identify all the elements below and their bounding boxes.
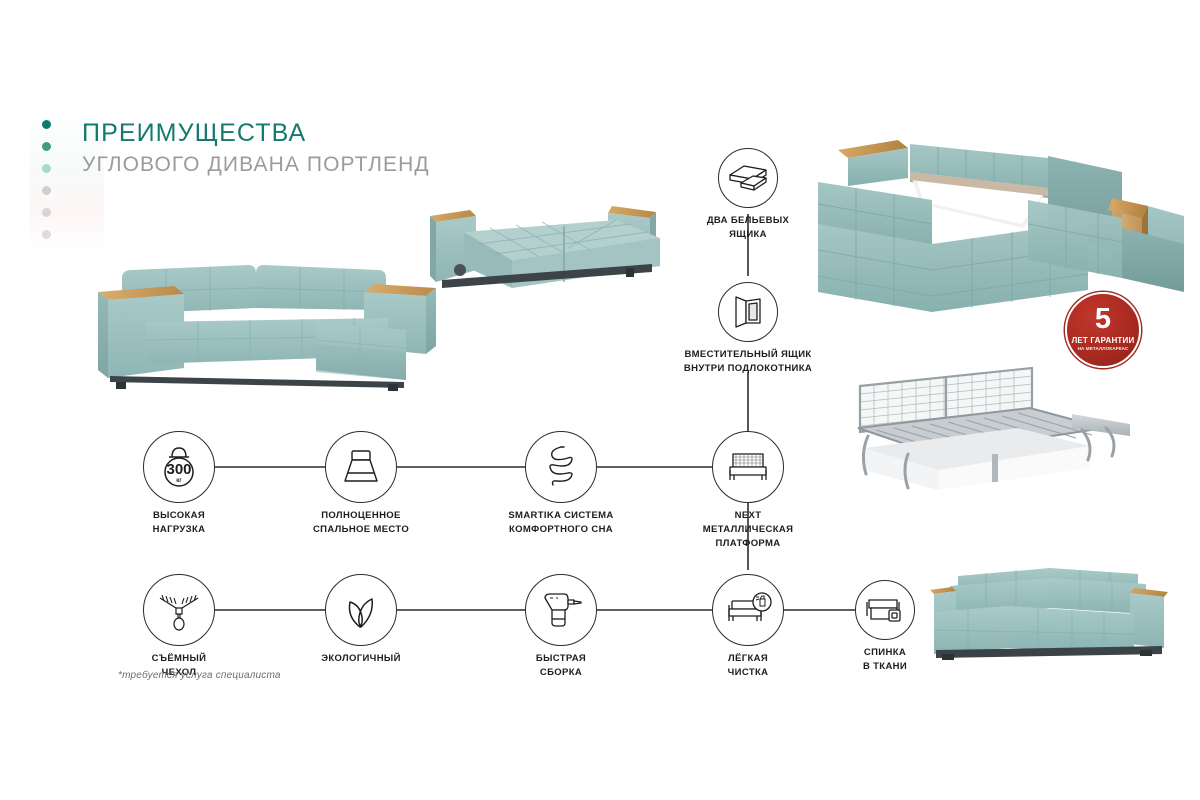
spring-icon [525, 431, 597, 503]
unfolded-sofa-bed-photo [412, 196, 682, 301]
node-label: ПОЛНОЦЕННОЕ СПАЛЬНОЕ МЕСТО [266, 509, 456, 537]
sofa-platform-icon [712, 431, 784, 503]
leaf-icon [325, 574, 397, 646]
load-unit: кг [176, 478, 182, 484]
node-label: ВМЕСТИТЕЛЬНЫЙ ЯЩИК ВНУТРИ ПОДЛОКОТНИКА [640, 348, 856, 376]
sofa-spray-icon [712, 574, 784, 646]
kettlebell-icon: 300 кг [143, 431, 215, 503]
dot-2 [42, 142, 51, 151]
dot-4 [42, 186, 51, 195]
title-secondary: УГЛОВОГО ДИВАНА ПОРТЛЕНД [82, 151, 430, 178]
warranty-years: 5 [1095, 306, 1111, 334]
dot-1 [42, 120, 51, 129]
footnote: *требуется услуга специалиста [118, 670, 281, 681]
corner-sofa-teal-photo [88, 248, 448, 393]
node-label: NEXT МЕТАЛЛИЧЕСКАЯ ПЛАТФОРМА [653, 509, 843, 550]
page-title: ПРЕИМУЩЕСТВА УГЛОВОГО ДИВАНА ПОРТЛЕНД [82, 118, 430, 178]
node-label: ДВА БЕЛЬЕВЫХ ЯЩИКА [653, 214, 843, 242]
node-label: ВЫСОКАЯ НАГРУЗКА [84, 509, 274, 537]
bed-icon [325, 431, 397, 503]
warranty-sublabel: НА МЕТАЛЛОКАРКАС [1078, 346, 1129, 351]
dot-5 [42, 208, 51, 217]
dot-3 [42, 164, 51, 173]
dot-column [42, 120, 58, 252]
sofa-open-storage-photo [812, 132, 1200, 328]
drill-icon [525, 574, 597, 646]
node-label: БЫСТРАЯ СБОРКА [466, 652, 656, 680]
node-label: ЭКОЛОГИЧНЫЙ [266, 652, 456, 666]
armrest-storage-icon [718, 282, 778, 342]
node-label: SMARTIKA СИСТЕМА КОМФОРТНОГО СНА [466, 509, 656, 537]
two-drawers-icon [718, 148, 778, 208]
metal-bed-frame-photo [842, 362, 1162, 502]
dot-6 [42, 230, 51, 239]
sofa-back-icon [855, 580, 915, 640]
zipper-icon [143, 574, 215, 646]
warranty-badge: 5 ЛЕТ ГАРАНТИИ НА МЕТАЛЛОКАРКАС [1065, 292, 1141, 368]
load-value: 300 [166, 461, 191, 478]
title-primary: ПРЕИМУЩЕСТВА [82, 118, 430, 149]
node-label: СПИНКА В ТКАНИ [790, 646, 980, 674]
advantages-infographic: ПРЕИМУЩЕСТВА УГЛОВОГО ДИВАНА ПОРТЛЕНД [0, 0, 1200, 800]
warranty-label: ЛЕТ ГАРАНТИИ [1072, 336, 1135, 345]
